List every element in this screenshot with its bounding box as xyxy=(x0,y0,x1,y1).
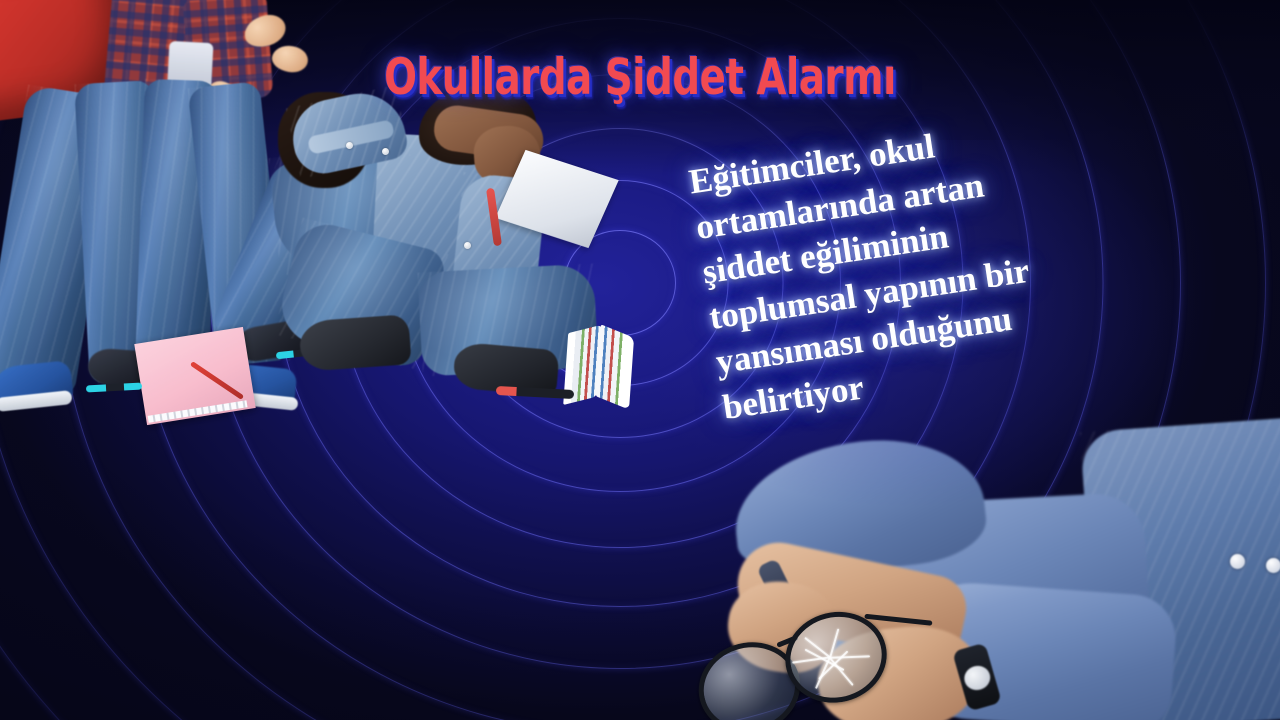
poster-canvas: Okullarda Şiddet Alarmı Eğitimciler, oku… xyxy=(0,0,1280,720)
page-title: Okullarda Şiddet Alarmı xyxy=(90,48,1191,106)
